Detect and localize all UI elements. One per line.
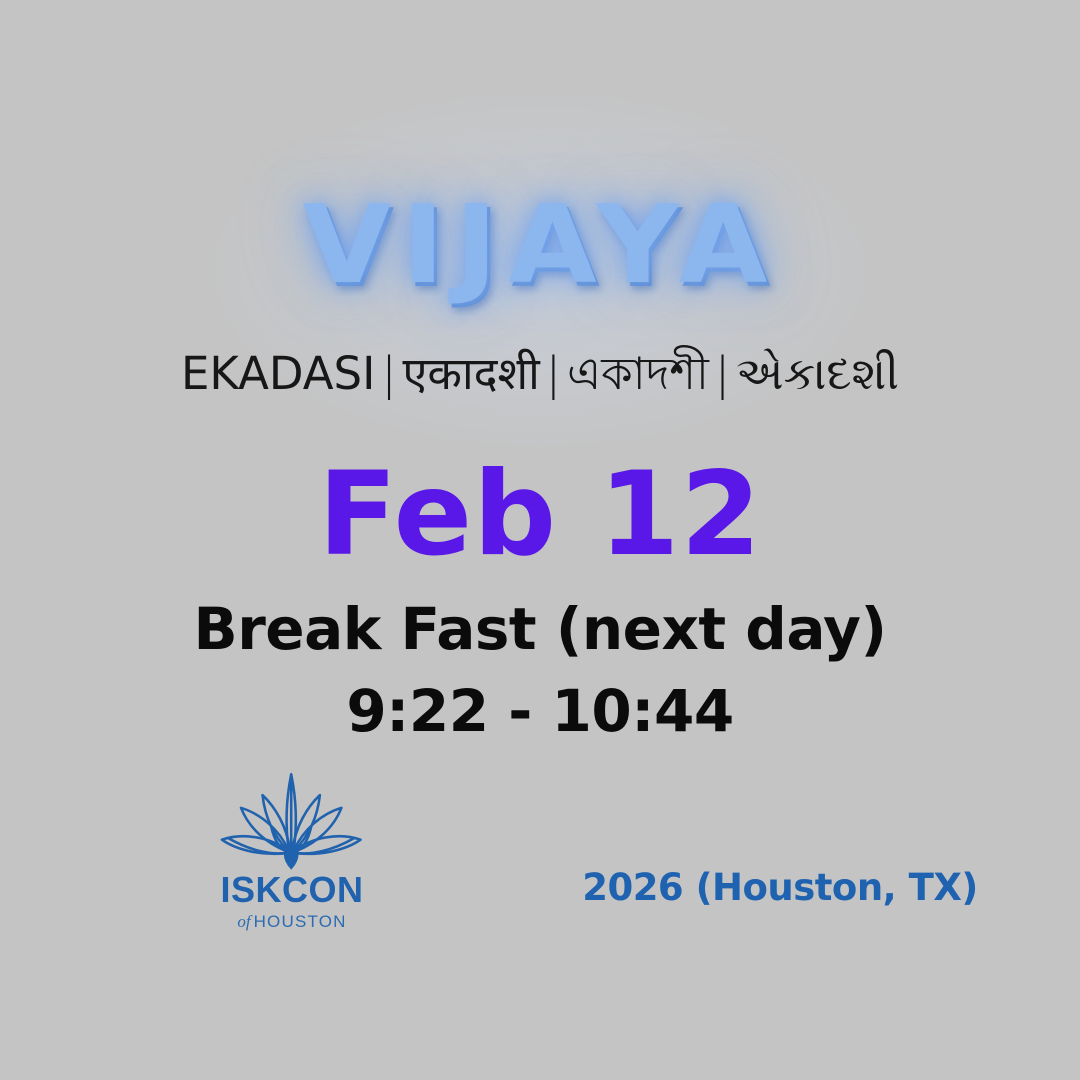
title-container: VIJAYA	[0, 192, 1080, 322]
ekadasi-date: Feb 12	[0, 452, 1080, 577]
subtitle-devanagari: एकादशी	[403, 347, 540, 400]
year-location: 2026 (Houston, TX)	[560, 868, 1000, 909]
subtitle-latin: EKADASI	[181, 347, 375, 400]
subtitle-separator-1: |	[375, 347, 402, 400]
logo-name: ISKCON	[212, 872, 372, 908]
logo-city: HOUSTON	[254, 912, 347, 931]
subtitle-bengali: একাদশী	[567, 347, 709, 400]
logo-of-text: of	[237, 912, 253, 931]
subtitle-separator-3: |	[709, 347, 736, 400]
break-fast-time: 9:22 - 10:44	[0, 680, 1080, 744]
logo-city-line: ofHOUSTON	[212, 913, 372, 930]
subtitle-gujarati: એકાદશી	[736, 347, 899, 400]
page-title: VIJAYA	[302, 192, 778, 300]
ekadasi-poster: VIJAYA EKADASI|एकादशी|একাদশী|એકાદશી Feb …	[0, 0, 1080, 1080]
break-fast-label: Break Fast (next day)	[0, 598, 1080, 662]
subtitle-separator-2: |	[540, 347, 567, 400]
subtitle-multiscript: EKADASI|एकादशी|একাদশী|એકાદશી	[0, 348, 1080, 400]
iskcon-logo: ISKCON ofHOUSTON	[212, 768, 372, 936]
lotus-icon	[212, 768, 372, 870]
